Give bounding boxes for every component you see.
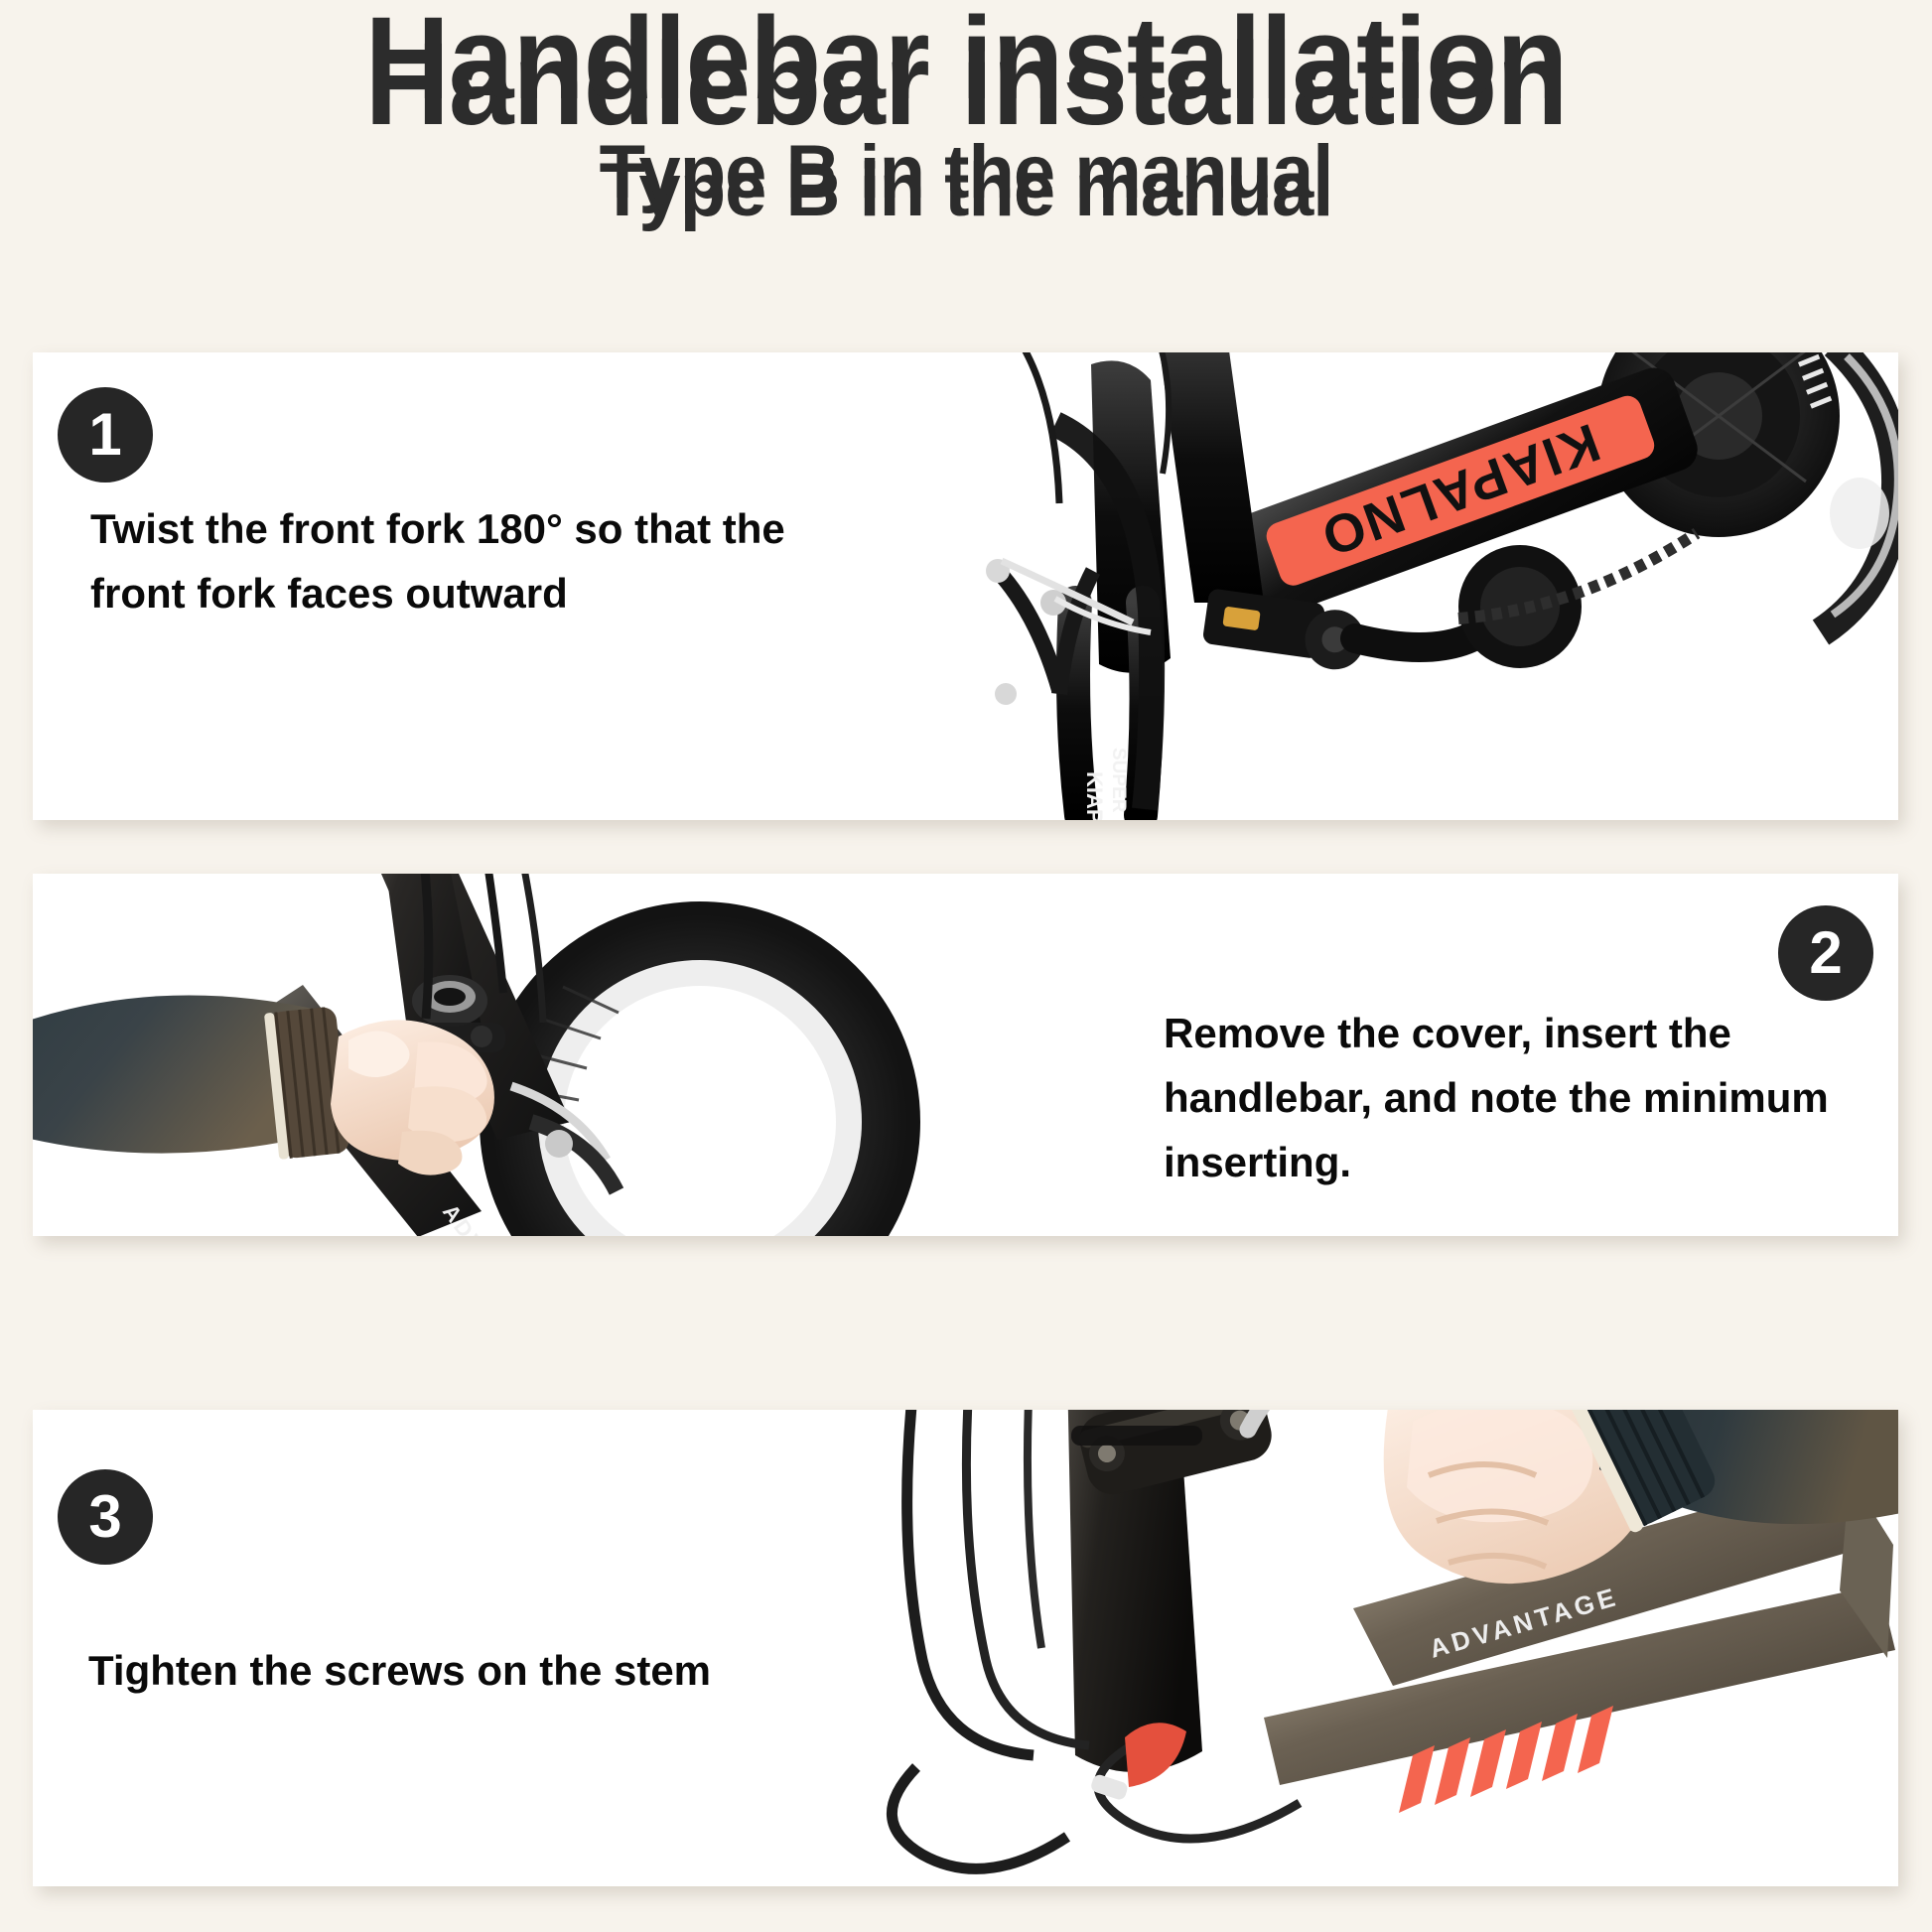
step-description-3: Tighten the screws on the stem [88,1638,902,1703]
svg-text:KIAPALNO: KIAPALNO [1082,771,1107,820]
page-title: Handlebar installation Handlebar install… [365,0,1568,117]
page-header: Handlebar installation Handlebar install… [0,0,1932,298]
step-number-badge-3: 3 [58,1469,153,1565]
step-photo-1: KIAPALNO [906,352,1898,820]
step-card-3[interactable]: 3 Tighten the screws on the stem [33,1410,1898,1886]
step-number-badge-1: 1 [58,387,153,483]
step-number-3: 3 [88,1487,121,1547]
step-photo-2: ADVANTAGE [33,874,928,1236]
step-number-2: 2 [1809,923,1842,983]
step-description-2: Remove the cover, insert the handlebar, … [1164,1001,1859,1194]
step-card-1[interactable]: 1 Twist the front fork 180° so that the … [33,352,1898,820]
step-description-1: Twist the front fork 180° so that the fr… [90,496,875,625]
step-number-badge-2: 2 [1778,905,1873,1001]
svg-text:SUPER: SUPER [1108,748,1129,813]
step-number-1: 1 [88,405,121,465]
step-photo-3: ADVANTAGE [797,1410,1898,1886]
step-card-2[interactable]: 2 Remove the cover, insert the handlebar… [33,874,1898,1236]
page-subtitle-text: Type B in the manual [600,130,1333,214]
page-subtitle: Type B in the manual Type B in the manua… [600,135,1333,210]
page-title-text: Handlebar installation [365,0,1568,124]
infographic-page: Handlebar installation Handlebar install… [0,0,1932,1932]
